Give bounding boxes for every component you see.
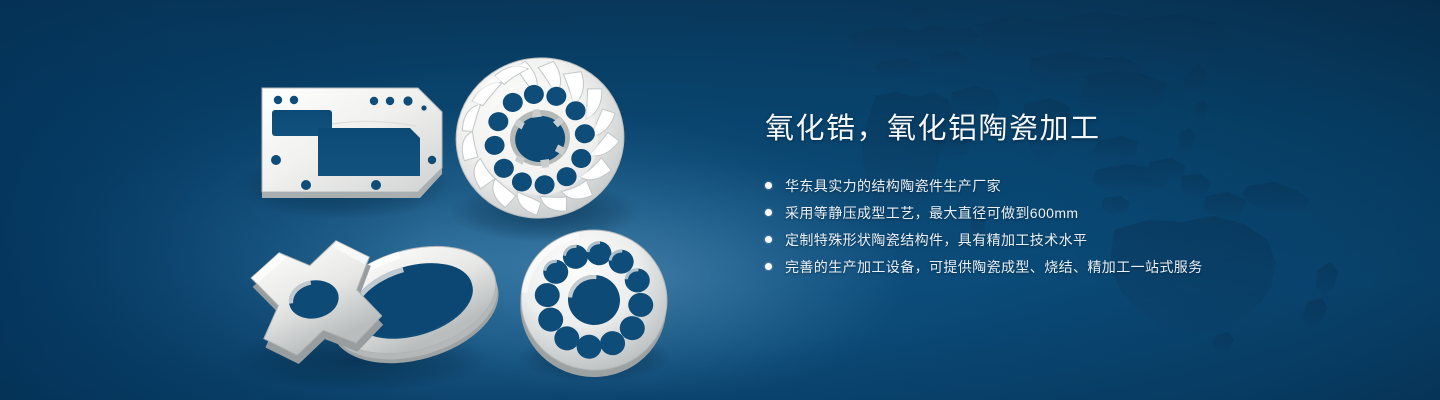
page-title: 氧化锆，氧化铝陶瓷加工 bbox=[765, 112, 1385, 146]
list-item: 定制特殊形状陶瓷结构件，具有精加工技术水平 bbox=[765, 228, 1385, 251]
ceramic-plate bbox=[262, 88, 442, 198]
list-item-label: 定制特殊形状陶瓷结构件，具有精加工技术水平 bbox=[785, 230, 1087, 250]
bullet-dot-icon bbox=[765, 209, 772, 216]
bullet-dot-icon bbox=[765, 236, 772, 243]
list-item: 完善的生产加工设备，可提供陶瓷成型、烧结、精加工一站式服务 bbox=[765, 255, 1385, 278]
promo-banner: 氧化锆，氧化铝陶瓷加工 华东具实力的结构陶瓷件生产厂家 采用等静压成型工艺，最大… bbox=[0, 0, 1440, 400]
list-item-label: 完善的生产加工设备，可提供陶瓷成型、烧结、精加工一站式服务 bbox=[785, 257, 1203, 277]
feature-list: 华东具实力的结构陶瓷件生产厂家 采用等静压成型工艺，最大直径可做到600mm 定… bbox=[765, 174, 1385, 278]
list-item-label: 采用等静压成型工艺，最大直径可做到600mm bbox=[785, 203, 1078, 223]
list-item-label: 华东具实力的结构陶瓷件生产厂家 bbox=[785, 176, 1001, 196]
banner-copy: 氧化锆，氧化铝陶瓷加工 华东具实力的结构陶瓷件生产厂家 采用等静压成型工艺，最大… bbox=[765, 112, 1385, 282]
bullet-dot-icon bbox=[765, 263, 772, 270]
bullet-dot-icon bbox=[765, 182, 772, 189]
list-item: 华东具实力的结构陶瓷件生产厂家 bbox=[765, 174, 1385, 197]
ceramic-products-image bbox=[0, 0, 720, 400]
list-item: 采用等静压成型工艺，最大直径可做到600mm bbox=[765, 201, 1385, 224]
